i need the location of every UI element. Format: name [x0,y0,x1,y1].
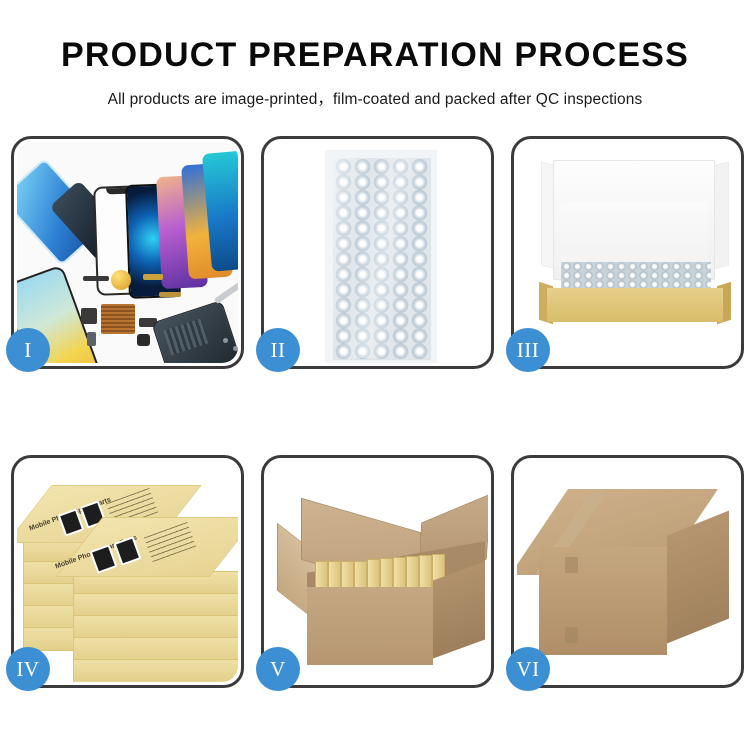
carton-front-panel [307,587,433,665]
wrap-sheen [333,158,429,358]
open-retail-box-icon [517,142,738,363]
step-badge-1: I [6,328,50,372]
step-badge-2: II [256,328,300,372]
step-4-image: Mobile Phone Spare Parts Mobile Phone Sp… [17,461,238,682]
page-title: PRODUCT PREPARATION PROCESS [0,0,750,74]
vibrator-icon [87,332,96,346]
stacked-box-edge [73,615,238,639]
stacked-box-edge [73,637,238,661]
box-base-front [547,288,723,322]
sealed-carton-icon [517,461,738,682]
flex-cable-icon [83,276,109,281]
foam-insert [561,202,707,264]
step-panel-6[interactable]: VI [511,455,744,688]
bubble-wrapped-contents [561,262,711,290]
step-2-image [267,142,488,363]
bubble-wrap-icon [267,142,488,363]
carton-tab-upper [565,557,578,573]
infographic-root: PRODUCT PREPARATION PROCESS All products… [0,0,750,750]
stacked-box-edge [73,593,238,617]
step-badge-3: III [506,328,550,372]
step-1-image [17,142,238,363]
step-panel-2[interactable]: II [261,136,494,369]
carton-side-panel [667,510,729,643]
open-carton-icon [267,461,488,682]
step-panel-1[interactable]: I [11,136,244,369]
stacked-box-edge [73,659,238,682]
screw-icon [233,346,238,351]
step-badge-5: V [256,647,300,691]
carton-front-panel [539,547,667,655]
step-6-image [517,461,738,682]
button-icon [137,334,150,346]
camera-module-icon [81,308,97,324]
process-step-grid: I II [0,136,750,750]
header: PRODUCT PREPARATION PROCESS All products… [0,0,750,109]
process-row-1: I II [0,136,750,369]
step-panel-5[interactable]: V [261,455,494,688]
process-row-2: Mobile Phone Spare Parts Mobile Phone Sp… [0,455,750,688]
page-subtitle: All products are image-printed，film-coat… [0,74,750,109]
step-5-image [267,461,488,682]
stacked-boxes-icon: Mobile Phone Spare Parts Mobile Phone Sp… [17,461,238,682]
carton-tab-lower [565,627,578,643]
gold-connector-icon [143,274,163,280]
phone-back-housing-icon [151,300,238,363]
step-3-image [517,142,738,363]
copper-mesh-icon [101,304,135,334]
step-badge-6: VI [506,647,550,691]
step-badge-4: IV [6,647,50,691]
phone-parts-icon [17,142,238,363]
speaker-module-icon [111,270,131,290]
sim-tray-icon [159,292,181,297]
step-panel-3[interactable]: III [511,136,744,369]
screwdriver-icon [214,282,238,304]
screw-icon [223,338,228,343]
step-panel-4[interactable]: Mobile Phone Spare Parts Mobile Phone Sp… [11,455,244,688]
